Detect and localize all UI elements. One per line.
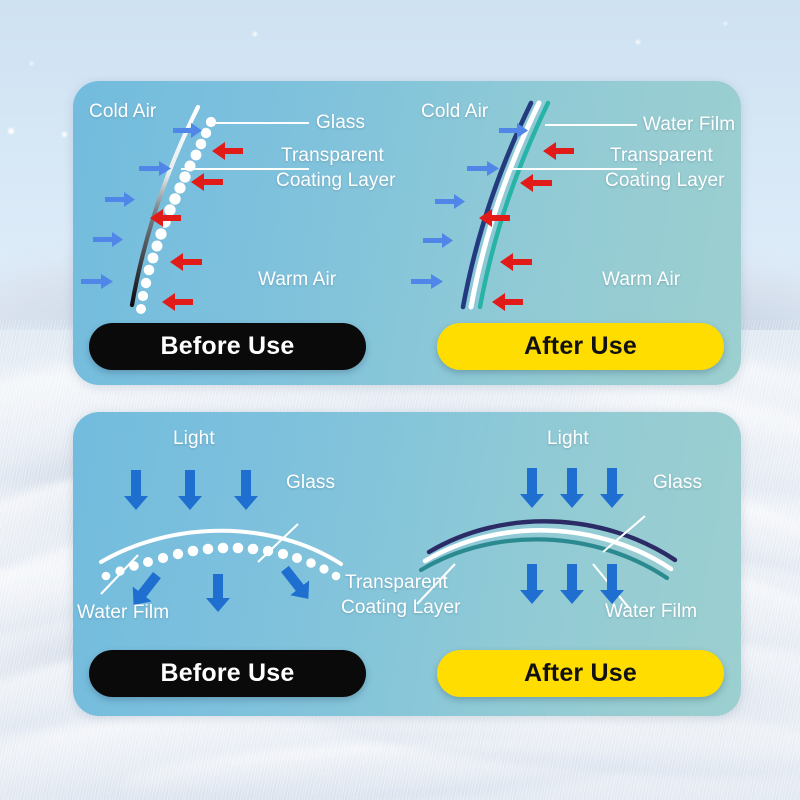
sparkle-6 [724, 22, 727, 25]
label-glass: Glass [316, 112, 365, 134]
label-coating-line1: Transparent [610, 145, 713, 167]
label-water-film: Water Film [605, 601, 697, 623]
poster-stage: Cold Air Glass Transparent Coating Layer… [0, 0, 800, 800]
panel-light-before: Light Glass Water Film Before Use [73, 412, 407, 716]
label-water-film: Water Film [77, 602, 169, 624]
sparkle-5 [636, 40, 640, 44]
label-glass: Glass [653, 472, 702, 494]
panel-fog-after: Cold Air Water Film Transparent Coating … [407, 81, 741, 385]
sparkle-1 [62, 132, 67, 137]
card-light-transmission-comparison: Light Glass Water Film Before Use [73, 412, 741, 716]
after-use-button-fog[interactable]: After Use [437, 323, 724, 370]
after-use-button-light[interactable]: After Use [437, 650, 724, 697]
label-coating-line1: Transparent [281, 145, 384, 167]
label-coating-line2: Coating Layer [605, 170, 725, 192]
label-water-film: Water Film [643, 114, 735, 136]
label-warm-air: Warm Air [602, 269, 680, 291]
before-use-button-fog[interactable]: Before Use [89, 323, 366, 370]
sparkle-3 [8, 128, 14, 134]
before-use-button-light[interactable]: Before Use [89, 650, 366, 697]
panel-fog-before: Cold Air Glass Transparent Coating Layer… [73, 81, 407, 385]
label-light: Light [547, 428, 589, 450]
glass-curve-line [132, 107, 198, 305]
label-coating-line1: Transparent [345, 572, 448, 594]
card-anti-fog-comparison: Cold Air Glass Transparent Coating Layer… [73, 81, 741, 385]
label-cold-air: Cold Air [421, 101, 488, 123]
label-coating-line2: Coating Layer [341, 597, 461, 619]
light-arrow-in-group [520, 468, 624, 508]
label-cold-air: Cold Air [89, 101, 156, 123]
label-glass: Glass [286, 472, 335, 494]
label-light: Light [173, 428, 215, 450]
panel-light-after: Light Glass Transparent Coating Layer Wa… [407, 412, 741, 716]
sparkle-4 [253, 32, 257, 36]
light-arrow-out-group [520, 564, 624, 604]
label-coating-line2: Coating Layer [276, 170, 396, 192]
label-warm-air: Warm Air [258, 269, 336, 291]
light-arrow-in-group [124, 470, 258, 510]
sparkle-7 [30, 62, 33, 65]
